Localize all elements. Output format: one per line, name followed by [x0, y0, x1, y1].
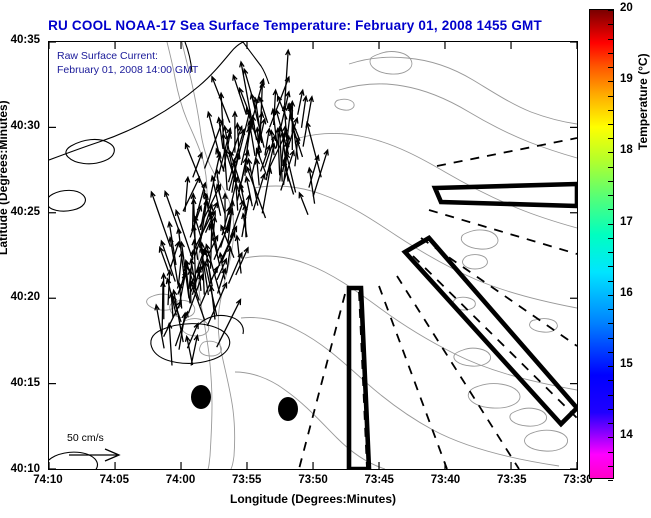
current-vector	[151, 192, 170, 247]
colorbar-minor-tick	[608, 338, 613, 339]
current-vector	[242, 151, 250, 181]
current-vector	[233, 112, 238, 153]
station-markers	[191, 385, 298, 421]
annotation-line-2: February 01, 2008 14:00 GMT	[57, 63, 198, 77]
y-tick-label: 40:35	[0, 34, 40, 46]
current-vector	[259, 97, 268, 123]
colorbar-minor-tick	[608, 24, 613, 25]
colorbar-minor-tick	[608, 452, 613, 453]
current-vector	[217, 300, 241, 348]
map-canvas	[49, 42, 577, 469]
colorbar-minor-tick	[608, 110, 613, 111]
colorbar-minor-tick	[608, 352, 613, 353]
colorbar-minor-tick	[608, 96, 613, 97]
colorbar-minor-tick	[608, 224, 613, 225]
x-tick-label: 74:00	[153, 474, 209, 486]
colorbar-minor-tick	[608, 81, 613, 82]
station-marker	[191, 385, 211, 409]
colorbar-minor-tick	[608, 409, 613, 410]
current-vector	[227, 247, 232, 273]
colorbar-minor-tick	[608, 238, 613, 239]
colorbar-tick-label: 15	[620, 358, 633, 370]
x-tick-label: 74:10	[20, 474, 76, 486]
colorbar-minor-tick	[608, 209, 613, 210]
current-vector	[255, 159, 259, 185]
colorbar-minor-tick	[608, 366, 613, 367]
current-vector	[167, 324, 172, 366]
temperature-colorbar	[589, 9, 614, 479]
colorbar-minor-tick	[608, 152, 613, 153]
colorbar-tick-label: 16	[620, 287, 633, 299]
colorbar-minor-tick	[608, 437, 613, 438]
x-tick-label: 73:35	[484, 474, 540, 486]
colorbar-minor-tick	[608, 124, 613, 125]
current-vector	[183, 177, 199, 211]
colorbar-minor-tick	[608, 466, 613, 467]
current-vector	[176, 210, 193, 260]
colorbar-minor-tick	[608, 39, 613, 40]
current-vector	[306, 122, 321, 177]
colorbar-minor-tick	[608, 295, 613, 296]
x-tick-label: 73:50	[285, 474, 341, 486]
colorbar-tick-label: 20	[620, 2, 633, 14]
colorbar-minor-tick	[608, 53, 613, 54]
current-vector	[185, 144, 205, 192]
colorbar-minor-tick	[608, 323, 613, 324]
colorbar-minor-tick	[608, 252, 613, 253]
current-vector	[299, 193, 308, 215]
current-vector	[298, 90, 304, 115]
coastline	[49, 42, 269, 469]
current-annotation: Raw Surface Current: February 01, 2008 1…	[57, 49, 198, 77]
colorbar-minor-tick	[608, 195, 613, 196]
colorbar-minor-tick	[608, 266, 613, 267]
colorbar-gradient	[590, 10, 613, 478]
current-vector	[191, 336, 198, 366]
colorbar-minor-tick	[608, 281, 613, 282]
colorbar-label: Temperature (°C)	[636, 53, 650, 150]
colorbar-minor-tick	[608, 480, 613, 481]
colorbar-minor-tick	[608, 309, 613, 310]
x-tick-label: 73:45	[351, 474, 407, 486]
surface-current-vectors	[151, 50, 328, 365]
y-tick-label: 40:15	[0, 377, 40, 389]
colorbar-tick-label: 18	[620, 144, 633, 156]
colorbar-tick-label: 17	[620, 216, 633, 228]
map-plot-area: Raw Surface Current: February 01, 2008 1…	[48, 41, 578, 470]
annotation-line-1: Raw Surface Current:	[57, 49, 198, 63]
colorbar-tick-label: 14	[620, 429, 633, 441]
colorbar-minor-tick	[608, 181, 613, 182]
colorbar-minor-tick	[608, 395, 613, 396]
colorbar-minor-tick	[608, 380, 613, 381]
axis-tick-marks	[49, 42, 577, 469]
y-tick-label: 40:30	[0, 120, 40, 132]
scale-bar-arrow	[69, 449, 119, 461]
y-tick-label: 40:20	[0, 291, 40, 303]
colorbar-minor-tick	[608, 10, 613, 11]
y-tick-label: 40:25	[0, 206, 40, 218]
x-axis-label: Longitude (Degrees:Minutes)	[48, 492, 578, 506]
x-tick-label: 73:40	[417, 474, 473, 486]
x-tick-label: 73:55	[219, 474, 275, 486]
x-tick-label: 74:05	[86, 474, 142, 486]
colorbar-minor-tick	[608, 423, 613, 424]
colorbar-minor-tick	[608, 138, 613, 139]
scale-bar-label: 50 cm/s	[67, 432, 104, 444]
colorbar-tick-label: 19	[620, 73, 633, 85]
sst-map-figure: RU COOL NOAA-17 Sea Surface Temperature:…	[0, 0, 651, 518]
colorbar-minor-tick	[608, 67, 613, 68]
figure-title: RU COOL NOAA-17 Sea Surface Temperature:…	[0, 18, 590, 33]
colorbar-minor-tick	[608, 167, 613, 168]
current-vector	[161, 282, 166, 335]
station-marker	[278, 397, 298, 421]
